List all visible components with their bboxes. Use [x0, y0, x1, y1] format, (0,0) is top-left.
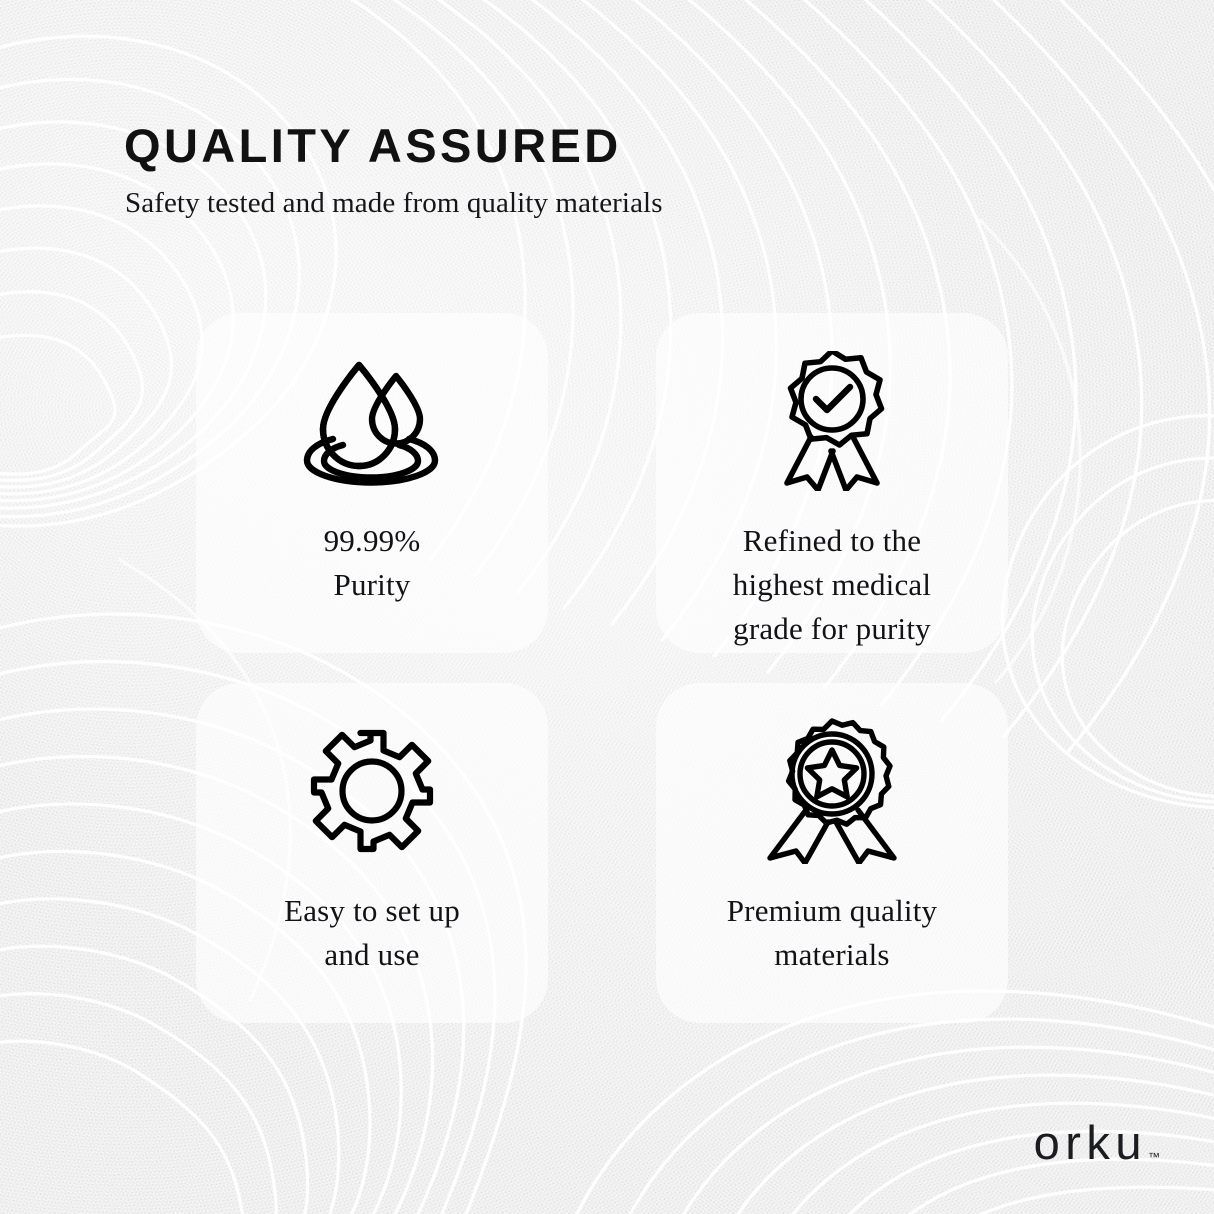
feature-card-text: Easy to set up and use: [227, 889, 517, 977]
feature-card-text: Premium quality materials: [687, 889, 977, 977]
brand-wordmark: orku: [1034, 1119, 1147, 1166]
award-ribbon-check-icon: [771, 347, 893, 495]
feature-card-text: 99.99% Purity: [227, 519, 517, 607]
feature-line-1: Refined to the: [687, 519, 977, 563]
feature-card-purity: 99.99% Purity: [196, 313, 548, 653]
feature-line-1: Premium quality: [687, 889, 977, 933]
trademark-symbol: ™: [1148, 1150, 1160, 1164]
infographic-canvas: QUALITY ASSURED Safety tested and made f…: [0, 0, 1214, 1214]
page-subtitle: Safety tested and made from quality mate…: [125, 186, 1024, 221]
feature-card-premium-materials: Premium quality materials: [656, 683, 1008, 1023]
feature-card-easy-setup: Easy to set up and use: [196, 683, 548, 1023]
feature-card-medical-grade: Refined to the highest medical grade for…: [656, 313, 1008, 653]
feature-line-2: materials: [687, 933, 977, 977]
feature-line-1: Easy to set up: [227, 889, 517, 933]
feature-line-3: grade for purity: [687, 607, 977, 651]
feature-line-2: and use: [227, 933, 517, 977]
feature-line-2: Purity: [227, 563, 517, 607]
page-title: QUALITY ASSURED: [124, 121, 1024, 170]
header: QUALITY ASSURED Safety tested and made f…: [124, 121, 1024, 221]
feature-line-2: highest medical: [687, 563, 977, 607]
feature-line-1: 99.99%: [227, 519, 517, 563]
medal-star-icon: [762, 717, 902, 865]
feature-card-grid: 99.99% Purity: [196, 313, 1008, 1023]
feature-card-text: Refined to the highest medical grade for…: [687, 519, 977, 651]
brand-logo: orku ™: [1034, 1119, 1160, 1166]
water-droplet-icon: [297, 347, 447, 495]
gear-icon: [307, 717, 437, 865]
